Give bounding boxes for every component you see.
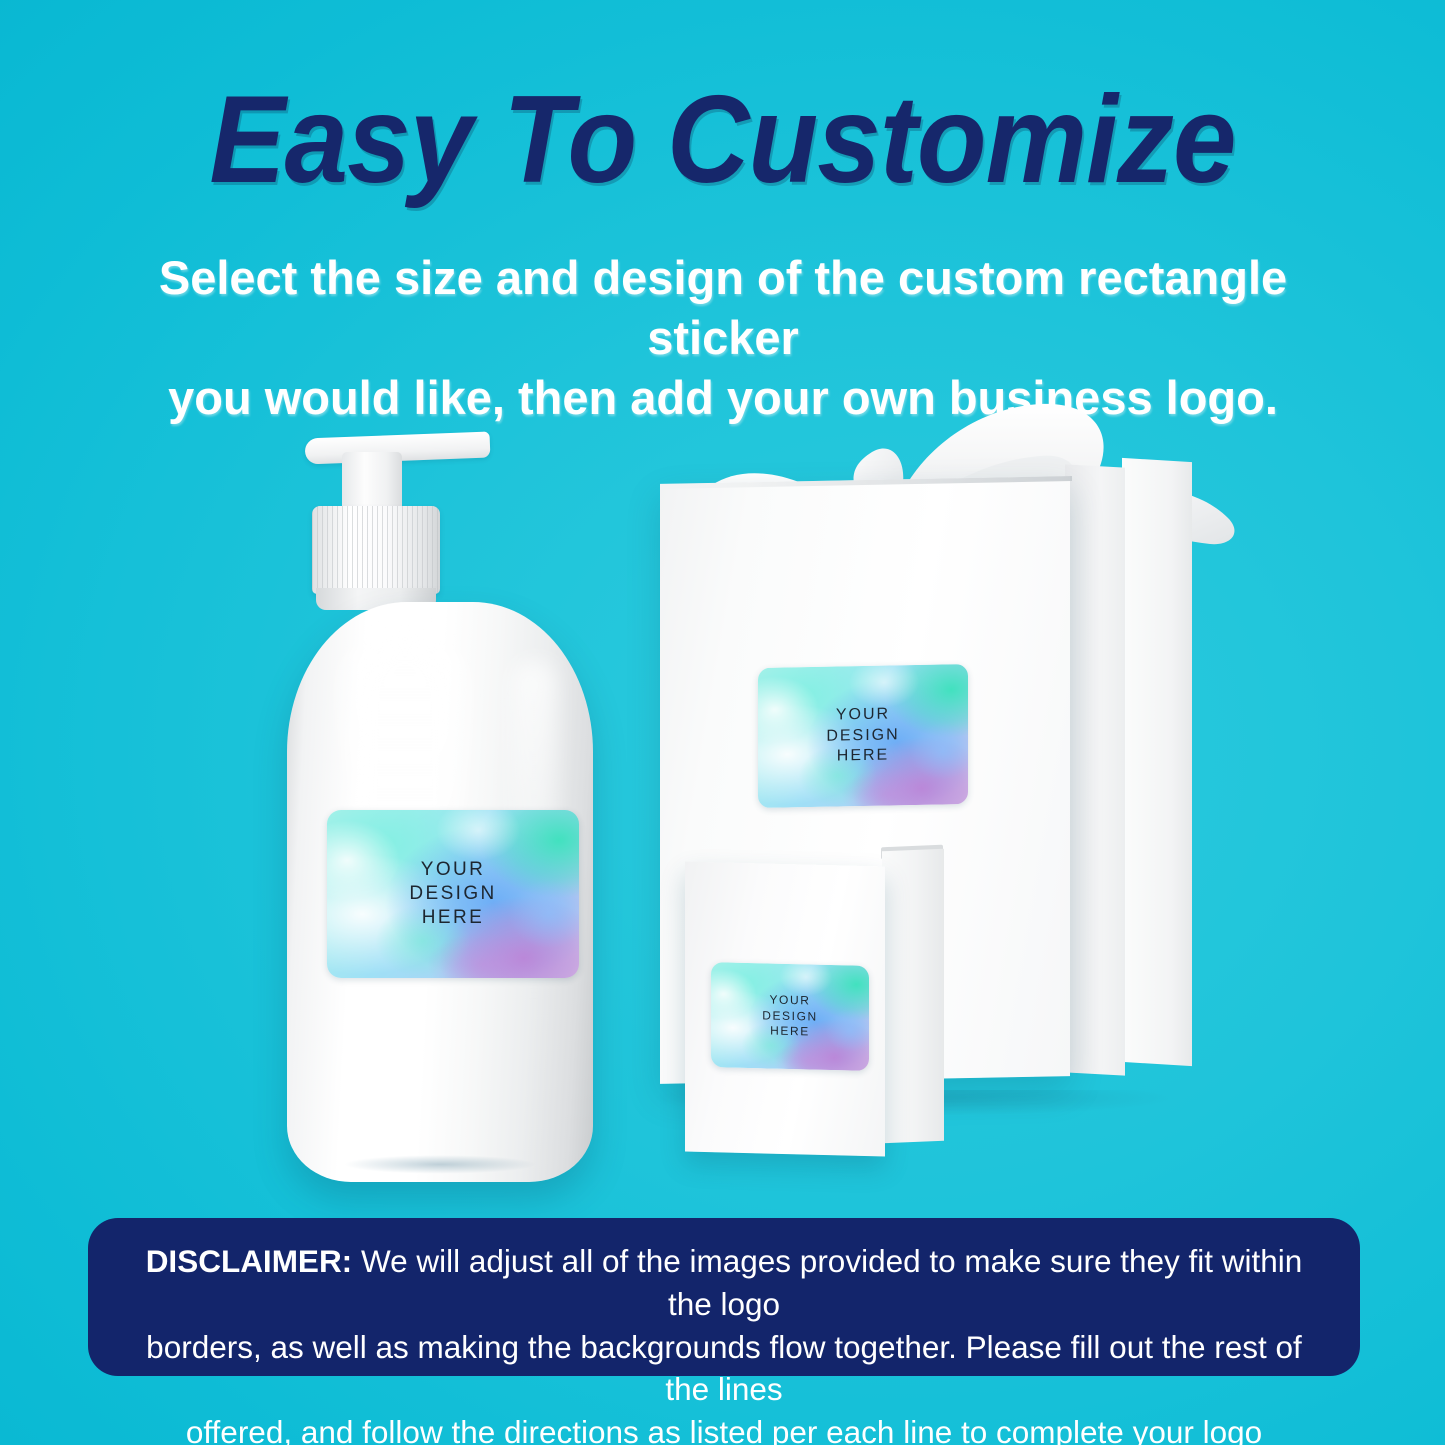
disclaimer-line-3: offered, and follow the directions as li…: [136, 1411, 1312, 1445]
sticker-placeholder-text: YOUR DESIGN HERE: [711, 962, 869, 1071]
gift-box-side-panel: [1065, 464, 1125, 1075]
promo-image: Easy To Customize Select the size and de…: [0, 0, 1445, 1445]
sticker-text-line-2: DESIGN: [826, 725, 899, 747]
sticker-text-line-2: DESIGN: [762, 1008, 818, 1025]
sticker-text-line-1: YOUR: [769, 993, 810, 1009]
sticker-placeholder-text: YOUR DESIGN HERE: [327, 810, 579, 978]
subtitle-line-1: Select the size and design of the custom…: [88, 248, 1358, 368]
sticker-on-gift-box: YOUR DESIGN HERE: [758, 664, 968, 808]
small-box-product: YOUR DESIGN HERE: [685, 850, 955, 1170]
sticker-placeholder-text: YOUR DESIGN HERE: [758, 664, 968, 808]
sticker-text-line-3: HERE: [422, 906, 484, 930]
gift-box-outer-side-panel: [1122, 458, 1192, 1066]
disclaimer-label: DISCLAIMER:: [146, 1243, 353, 1279]
disclaimer-line-1: DISCLAIMER: We will adjust all of the im…: [136, 1240, 1312, 1326]
disclaimer-line-2: borders, as well as making the backgroun…: [136, 1326, 1312, 1412]
sticker-text-line-2: DESIGN: [409, 882, 496, 906]
small-box-side-panel: [882, 849, 944, 1144]
pump-bottle-product: YOUR DESIGN HERE: [285, 410, 605, 1190]
bottle-base-shadow: [307, 1154, 573, 1180]
sticker-text-line-1: YOUR: [421, 858, 486, 882]
sticker-text-line-1: YOUR: [836, 705, 890, 727]
disclaimer-text-1: We will adjust all of the images provide…: [352, 1243, 1302, 1322]
sticker-on-bottle: YOUR DESIGN HERE: [327, 810, 579, 978]
sticker-text-line-3: HERE: [837, 746, 889, 767]
page-title: Easy To Customize: [58, 78, 1387, 202]
bottle-cap-collar: [312, 506, 440, 594]
disclaimer-banner: DISCLAIMER: We will adjust all of the im…: [88, 1218, 1360, 1376]
product-mockup-scene: YOUR DESIGN HERE YOUR DESIGN HERE: [0, 390, 1445, 1190]
sticker-on-small-box: YOUR DESIGN HERE: [711, 962, 869, 1071]
sticker-text-line-3: HERE: [770, 1024, 810, 1040]
